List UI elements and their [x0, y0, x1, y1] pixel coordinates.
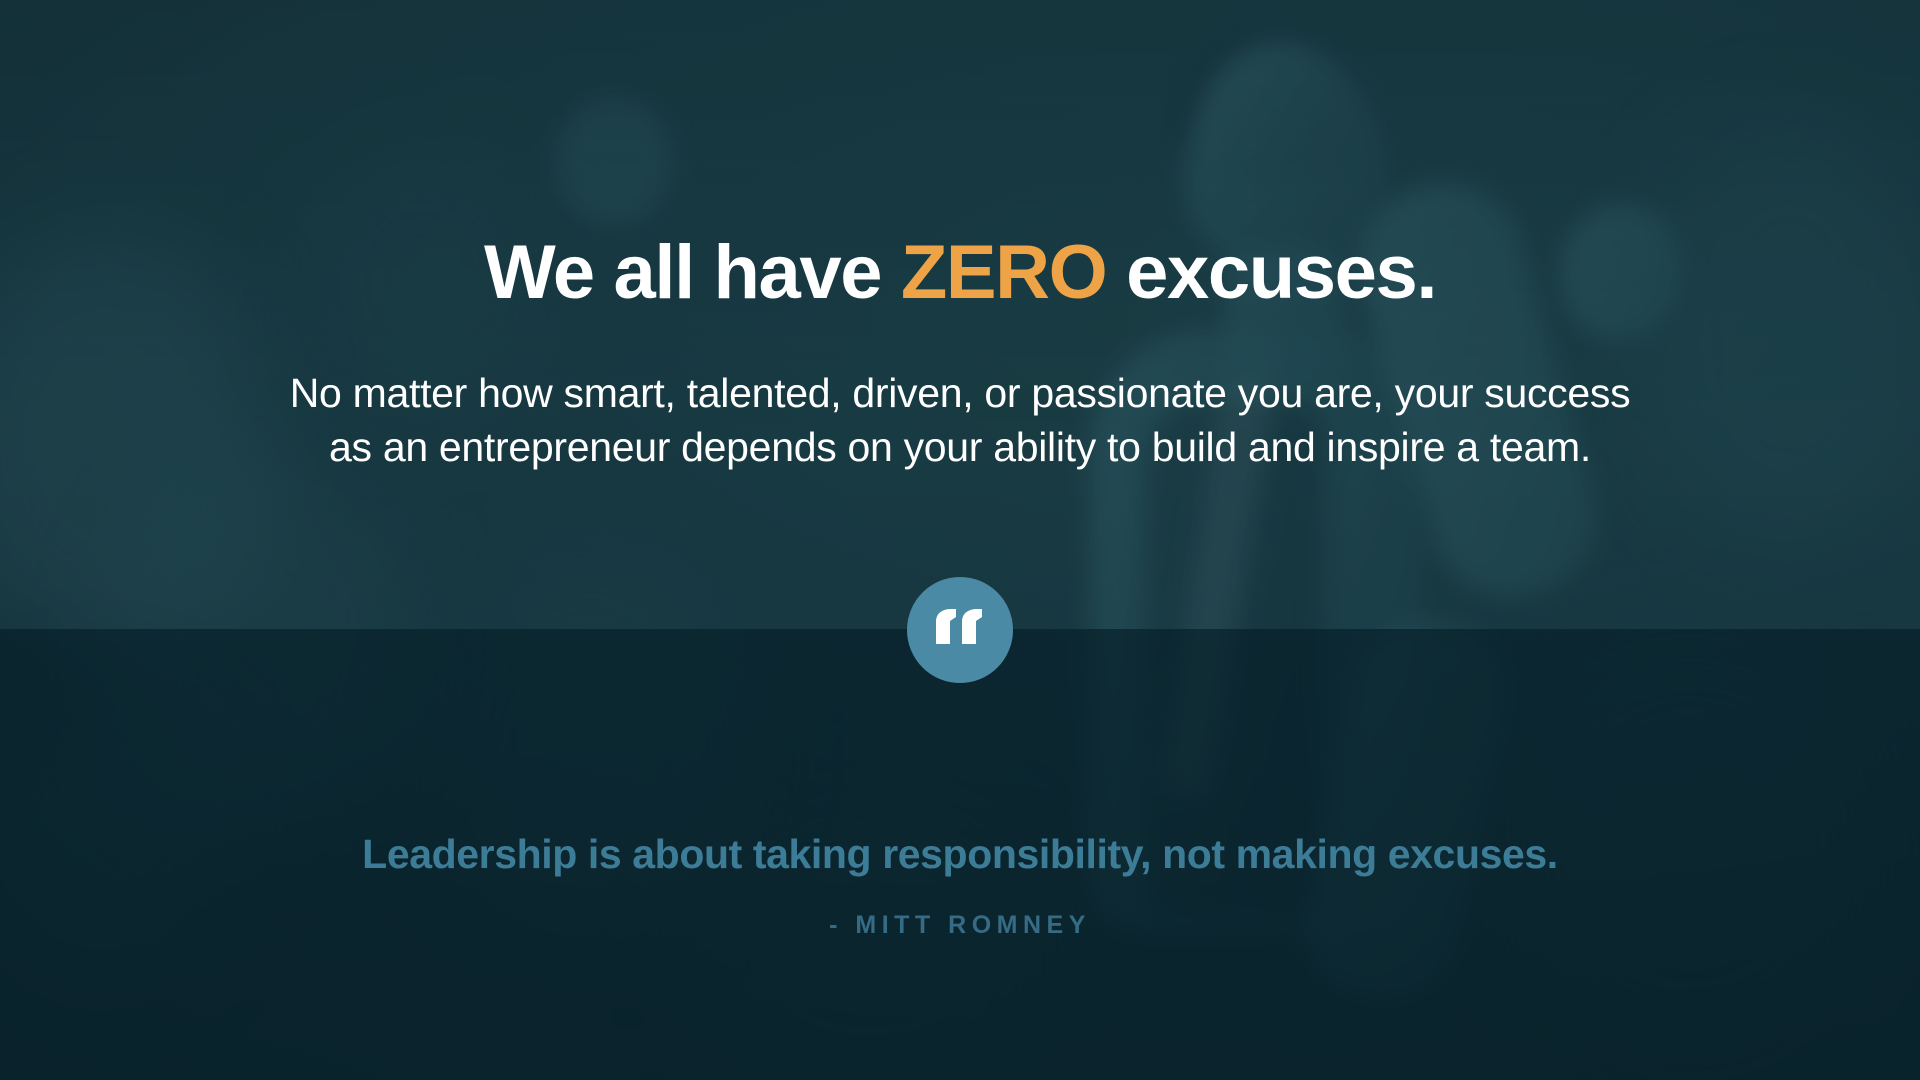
slide-content: We all have ZERO excuses. No matter how …	[0, 0, 1920, 1080]
quote-slide: We all have ZERO excuses. No matter how …	[0, 0, 1920, 1080]
pull-quote: Leadership is about taking responsibilit…	[80, 831, 1840, 878]
quotation-mark-icon	[934, 608, 986, 648]
quote-attribution: - MITT ROMNEY	[360, 911, 1560, 940]
subtitle-line-2: as an entrepreneur depends on your abili…	[110, 420, 1810, 474]
subtitle-line-1: No matter how smart, talented, driven, o…	[110, 366, 1810, 420]
quote-badge	[907, 577, 1013, 683]
subtitle: No matter how smart, talented, driven, o…	[110, 366, 1810, 474]
page-title: We all have ZERO excuses.	[0, 233, 1920, 313]
headline-text-after: excuses.	[1106, 230, 1436, 315]
headline-accent-word: ZERO	[901, 230, 1107, 315]
headline-text-before: We all have	[484, 230, 901, 315]
